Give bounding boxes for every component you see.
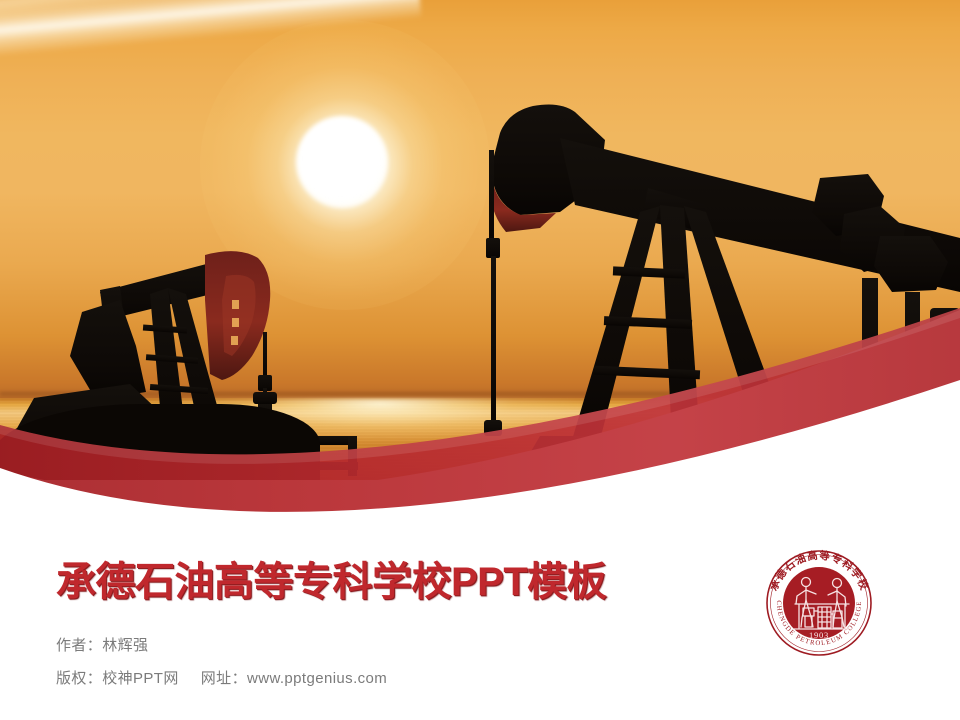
url-text: 网址：www.pptgenius.com	[201, 670, 387, 687]
pumpjack-large	[484, 104, 960, 470]
pumpjack-far-right	[930, 308, 960, 334]
foreground-ground	[0, 404, 320, 480]
page-title: 承德石油高等专科学校PPT模板	[56, 549, 606, 607]
slide-canvas: 承德石油高等专科学校PPT模板 作者：林辉强 版权：校神PPT网网址：www.p…	[0, 0, 960, 720]
copyright-text: 版权：校神PPT网	[56, 670, 179, 687]
copyright-line: 版权：校神PPT网网址：www.pptgenius.com	[56, 667, 387, 688]
author-line: 作者：林辉强	[56, 634, 148, 655]
chengde-petroleum-college-seal-icon[interactable]: 承德石油高等专科学校 CHENGDE PETROLEUM COLLEGE	[764, 548, 874, 658]
hero-photo	[0, 0, 960, 480]
seal-year: 1903	[809, 630, 829, 640]
